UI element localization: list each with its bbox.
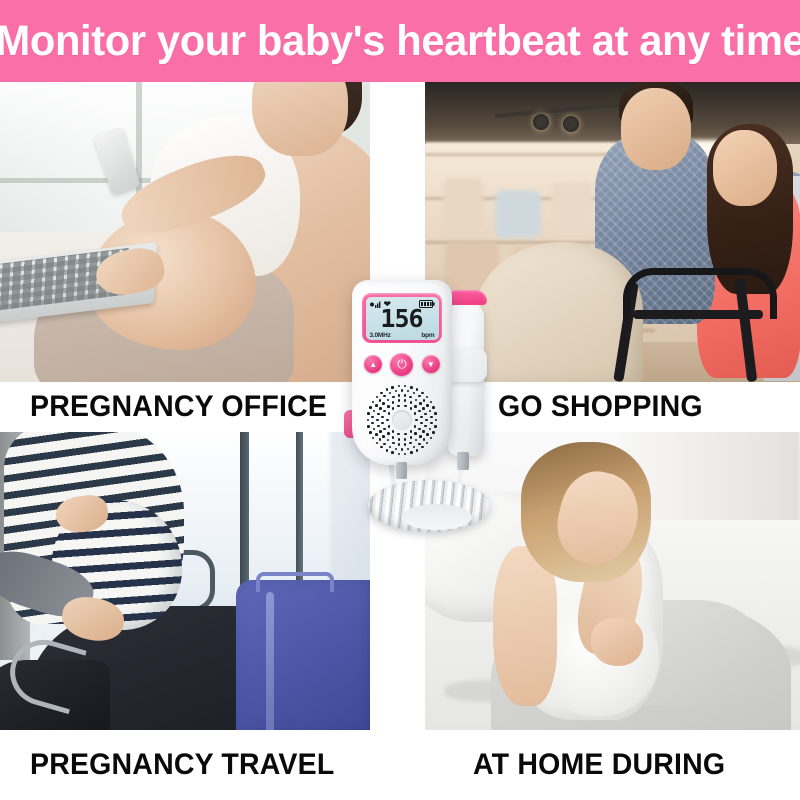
volume-up-button[interactable]: ▲ bbox=[364, 355, 382, 373]
speaker-dot bbox=[409, 396, 412, 399]
speaker-dot bbox=[392, 407, 395, 410]
header-banner: Monitor your baby's heartbeat at any tim… bbox=[0, 0, 800, 82]
photo-pregnancy-travel bbox=[0, 430, 370, 730]
speaker-dot bbox=[414, 412, 417, 415]
store-merchandise bbox=[495, 190, 541, 238]
lcd-screen: ❤ 156 3.0MHz bbox=[366, 297, 439, 340]
speaker-dot bbox=[389, 446, 392, 449]
speaker-dot bbox=[392, 442, 395, 445]
speaker-dot bbox=[410, 407, 413, 410]
stroller-handlebar bbox=[623, 268, 777, 319]
speaker-dot bbox=[432, 431, 435, 434]
speaker-dot bbox=[434, 412, 437, 415]
speaker-dot bbox=[426, 433, 429, 436]
caption-pregnancy-travel: PREGNANCY TRAVEL bbox=[30, 748, 334, 782]
caption-at-home-during: AT HOME DURING bbox=[473, 748, 725, 782]
speaker-dot bbox=[392, 436, 395, 439]
speaker-dot bbox=[418, 428, 421, 431]
speaker-dot bbox=[369, 431, 372, 434]
speaker-dot bbox=[382, 435, 385, 438]
speaker-dot bbox=[430, 401, 433, 404]
speaker-dot bbox=[419, 402, 422, 405]
speaker-dot bbox=[386, 419, 389, 422]
speaker-dot bbox=[404, 405, 407, 408]
speaker-dot bbox=[414, 432, 417, 435]
speaker-dot bbox=[397, 433, 400, 436]
speaker-dot bbox=[421, 446, 424, 449]
speaker-dot bbox=[409, 442, 412, 445]
speaker-dot bbox=[420, 422, 423, 425]
speaker-dot bbox=[425, 419, 428, 422]
speaker-dot bbox=[415, 419, 418, 422]
speaker-dot bbox=[398, 394, 401, 397]
speaker-dot bbox=[423, 399, 426, 402]
speaker-dot bbox=[388, 425, 391, 428]
volume-down-button[interactable]: ▼ bbox=[422, 355, 440, 373]
lcd-bottom-row: 3.0MHz bpm bbox=[370, 332, 435, 339]
speaker-dot bbox=[422, 430, 425, 433]
unit-label: bpm bbox=[421, 332, 434, 339]
speaker-dot bbox=[380, 392, 383, 395]
speaker-dot bbox=[407, 448, 410, 451]
probe-connector bbox=[457, 452, 469, 470]
speaker-dot bbox=[398, 438, 401, 441]
speaker-dot bbox=[382, 402, 385, 405]
speaker-dot bbox=[392, 430, 395, 433]
speaker-dot bbox=[432, 406, 435, 409]
product-marketing-image: Monitor your baby's heartbeat at any tim… bbox=[0, 0, 800, 800]
device-button-row: ▲ ⏻ ▼ bbox=[360, 352, 444, 376]
speaker-dot bbox=[391, 451, 394, 454]
speaker-dot bbox=[371, 422, 374, 425]
speaker-dot bbox=[410, 401, 413, 404]
speaker-dot bbox=[398, 443, 401, 446]
speaker-dot bbox=[379, 407, 382, 410]
speaker-dot bbox=[392, 401, 395, 404]
speaker-dot bbox=[379, 430, 382, 433]
lcd-bezel: ❤ 156 3.0MHz bbox=[362, 293, 442, 343]
speaker-dot bbox=[383, 410, 386, 413]
speaker-dot bbox=[387, 432, 390, 435]
speaker-dot bbox=[420, 416, 423, 419]
speaker-dot bbox=[404, 438, 407, 441]
photo-pregnancy-office bbox=[0, 82, 370, 382]
speaker-dot bbox=[435, 419, 438, 422]
woman-head bbox=[713, 130, 777, 206]
photo-scene-office bbox=[0, 82, 370, 382]
speaker-dot bbox=[418, 410, 421, 413]
device-body: ❤ 156 3.0MHz bbox=[352, 280, 452, 465]
speaker-dot bbox=[423, 438, 426, 441]
suitcase-zipper bbox=[266, 592, 274, 730]
speaker-dot bbox=[367, 412, 370, 415]
speaker-dot bbox=[401, 389, 404, 392]
woman-hand-on-belly bbox=[591, 618, 643, 666]
power-button[interactable]: ⏻ bbox=[390, 353, 413, 376]
speaker-dot bbox=[413, 446, 416, 449]
speaker-dot bbox=[379, 399, 382, 402]
speaker-dot bbox=[407, 390, 410, 393]
speaker-dot bbox=[373, 428, 376, 431]
speaker-dot bbox=[376, 419, 379, 422]
speaker-dot bbox=[386, 388, 389, 391]
speaker-dot bbox=[404, 399, 407, 402]
speaker-dot bbox=[404, 385, 407, 388]
speaker-dot bbox=[415, 399, 418, 402]
speaker-dot bbox=[424, 413, 427, 416]
speaker-dot bbox=[397, 405, 400, 408]
blue-suitcase bbox=[236, 580, 370, 730]
speaker-dot bbox=[415, 439, 418, 442]
speaker-dot bbox=[376, 442, 379, 445]
speaker-dot bbox=[414, 405, 417, 408]
speaker-dot bbox=[375, 433, 378, 436]
speaker-dot bbox=[398, 399, 401, 402]
speaker-dot bbox=[421, 392, 424, 395]
speaker-dot bbox=[410, 436, 413, 439]
speaker-dot bbox=[387, 405, 390, 408]
store-merchandise bbox=[551, 182, 593, 238]
speaker-dot bbox=[392, 396, 395, 399]
cable-coil bbox=[368, 480, 490, 532]
speaker-dot bbox=[410, 430, 413, 433]
speaker-dot bbox=[386, 449, 389, 452]
speaker-dot bbox=[383, 428, 386, 431]
speaker-dot bbox=[383, 443, 386, 446]
speaker-dot bbox=[372, 401, 375, 404]
speaker-dot bbox=[379, 438, 382, 441]
speaker-dot bbox=[388, 412, 391, 415]
speaker-dot bbox=[426, 396, 429, 399]
man-head bbox=[621, 88, 691, 170]
speaker-dot bbox=[377, 425, 380, 428]
speaker-dot bbox=[404, 394, 407, 397]
speaker-dot bbox=[414, 425, 417, 428]
speaker-dot bbox=[380, 446, 383, 449]
speaker-dot bbox=[401, 448, 404, 451]
speaker-dot bbox=[391, 386, 394, 389]
speaker-grille bbox=[366, 384, 438, 456]
cable-coil-center bbox=[402, 504, 472, 530]
speaker-dot bbox=[375, 404, 378, 407]
speaker-dot bbox=[404, 453, 407, 456]
headline-text: Monitor your baby's heartbeat at any tim… bbox=[0, 17, 800, 66]
woman-head bbox=[252, 82, 348, 156]
speaker-dot bbox=[381, 416, 384, 419]
speaker-dot bbox=[372, 437, 375, 440]
speaker-dot bbox=[422, 407, 425, 410]
caption-pregnancy-office: PREGNANCY OFFICE bbox=[30, 390, 327, 424]
speaker-dot bbox=[383, 395, 386, 398]
speaker-dot bbox=[367, 419, 370, 422]
speaker-dot bbox=[398, 453, 401, 456]
speaker-dot bbox=[377, 413, 380, 416]
speaker-dot bbox=[376, 396, 379, 399]
speaker-dot bbox=[367, 425, 370, 428]
store-merchandise bbox=[443, 178, 483, 234]
speaker-dot bbox=[418, 443, 421, 446]
suitcase-handle bbox=[256, 572, 334, 592]
speaker-dot bbox=[387, 399, 390, 402]
speaker-dot bbox=[373, 410, 376, 413]
speaker-dot bbox=[369, 406, 372, 409]
spotlight-icon bbox=[563, 116, 579, 132]
speaker-dot bbox=[416, 449, 419, 452]
fetal-doppler-device: ❤ 156 3.0MHz bbox=[352, 280, 452, 480]
speaker-dot bbox=[395, 448, 398, 451]
speaker-dot bbox=[389, 392, 392, 395]
speaker-dot bbox=[418, 395, 421, 398]
speaker-dot bbox=[381, 422, 384, 425]
speaker-dot bbox=[404, 433, 407, 436]
speaker-dot bbox=[410, 386, 413, 389]
speaker-dot bbox=[419, 435, 422, 438]
spotlight-icon bbox=[533, 114, 549, 130]
speaker-dot bbox=[430, 437, 433, 440]
speaker-dot bbox=[404, 443, 407, 446]
caption-go-shopping: GO SHOPPING bbox=[498, 390, 703, 424]
speaker-dot bbox=[398, 385, 401, 388]
speaker-dot bbox=[410, 451, 413, 454]
speaker-dot bbox=[426, 442, 429, 445]
speaker-dot bbox=[416, 388, 419, 391]
speaker-dot bbox=[429, 410, 432, 413]
speaker-dot bbox=[426, 404, 429, 407]
speaker-dot bbox=[395, 390, 398, 393]
speaker-dot bbox=[430, 422, 433, 425]
speaker-dot bbox=[387, 439, 390, 442]
heart-rate-value: 156 bbox=[366, 306, 438, 331]
speaker-dot bbox=[429, 428, 432, 431]
speaker-dot bbox=[424, 425, 427, 428]
frequency-label: 3.0MHz bbox=[370, 332, 391, 339]
speaker-center bbox=[392, 410, 412, 430]
photo-scene-travel bbox=[0, 430, 370, 730]
speaker-dot bbox=[413, 392, 416, 395]
speaker-dot bbox=[371, 416, 374, 419]
speaker-dot bbox=[434, 425, 437, 428]
speaker-dot bbox=[430, 416, 433, 419]
device-connector bbox=[396, 462, 407, 479]
